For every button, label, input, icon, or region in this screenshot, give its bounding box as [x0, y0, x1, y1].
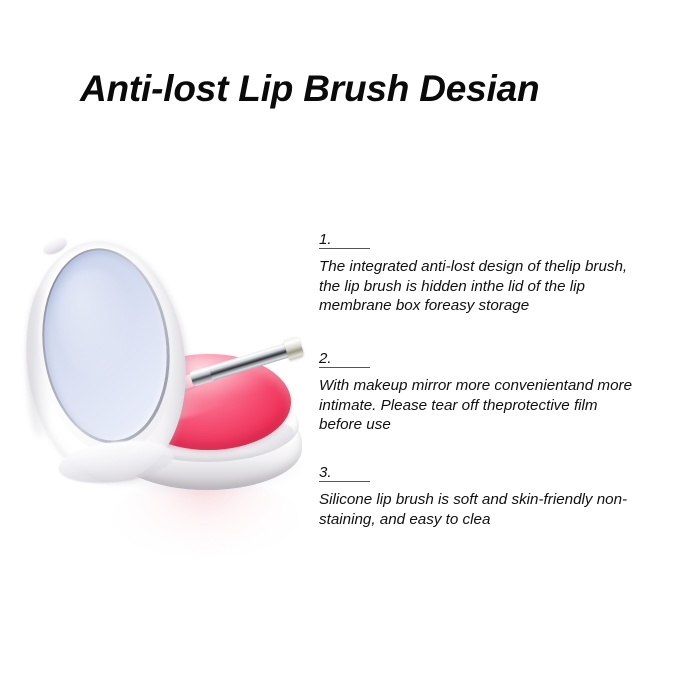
feature-item-2: 2. With makeup mirror more convenientand…: [319, 350, 649, 435]
page-title: Anti-lost Lip Brush Desian: [80, 66, 640, 112]
lid-left-shading: [27, 288, 53, 438]
feature-text-2: With makeup mirror more convenientand mo…: [319, 376, 641, 435]
feature-text-3: Silicone lip brush is soft and skin-frie…: [319, 490, 641, 529]
feature-number-3: 3.: [319, 464, 370, 482]
feature-number-2: 2.: [319, 350, 370, 368]
feature-item-1: 1. The integrated anti-lost design of th…: [319, 231, 649, 316]
feature-item-3: 3. Silicone lip brush is soft and skin-f…: [319, 464, 649, 529]
product-marketing-image: Anti-lost Lip Brush Desian: [0, 0, 679, 679]
feature-text-1: The integrated anti-lost design of theli…: [319, 257, 641, 316]
product-photo: [14, 228, 314, 573]
feature-number-1: 1.: [319, 231, 370, 249]
